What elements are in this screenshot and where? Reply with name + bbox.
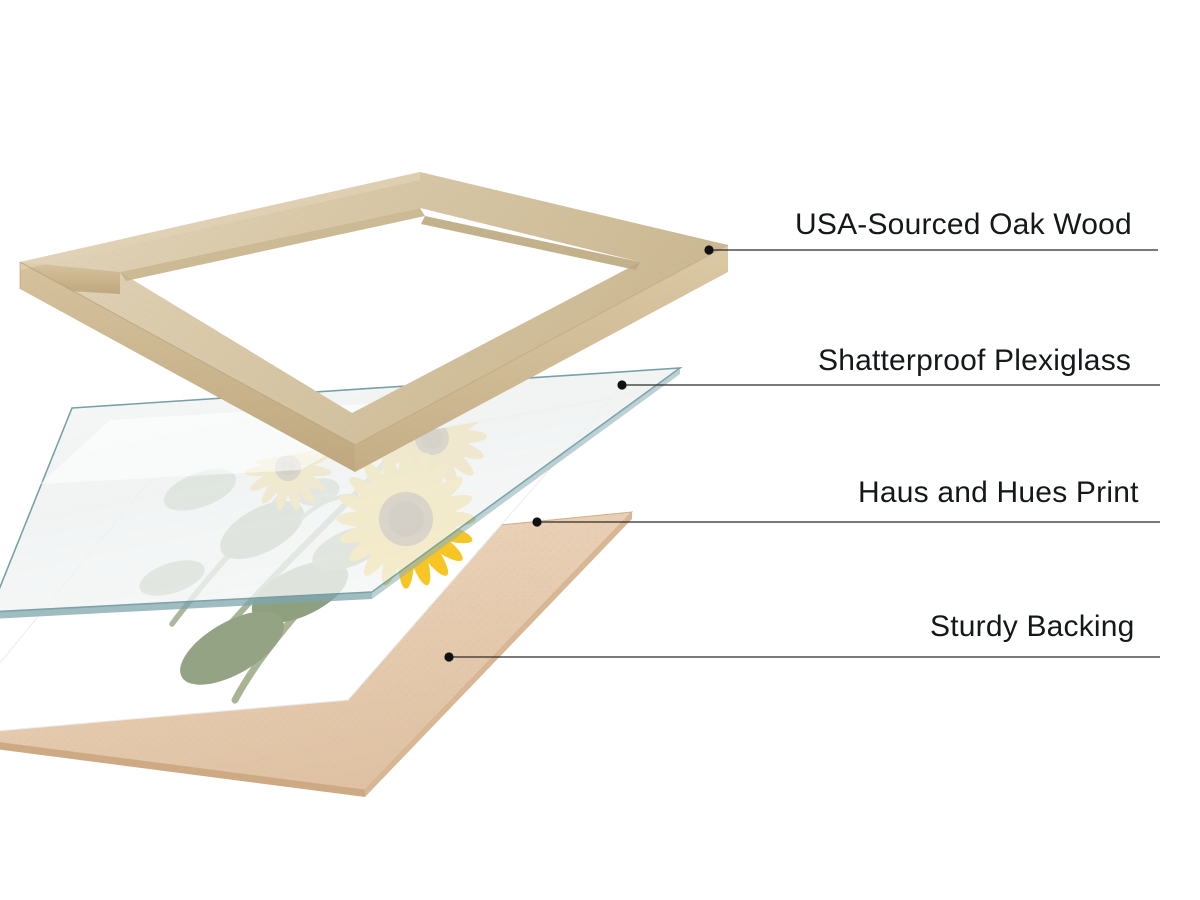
leader-plexiglass xyxy=(617,380,1160,389)
label-oak-wood: USA-Sourced Oak Wood xyxy=(795,208,1132,242)
leader-oak xyxy=(704,245,1158,254)
label-plexiglass: Shatterproof Plexiglass xyxy=(818,344,1131,378)
layer-stack-illustration xyxy=(0,0,1200,900)
exploded-frame-diagram: USA-Sourced Oak Wood Shatterproof Plexig… xyxy=(0,0,1200,900)
label-print: Haus and Hues Print xyxy=(858,476,1139,510)
leader-backing xyxy=(444,652,1160,661)
plexiglass-layer xyxy=(0,368,680,619)
label-backing: Sturdy Backing xyxy=(930,610,1135,644)
